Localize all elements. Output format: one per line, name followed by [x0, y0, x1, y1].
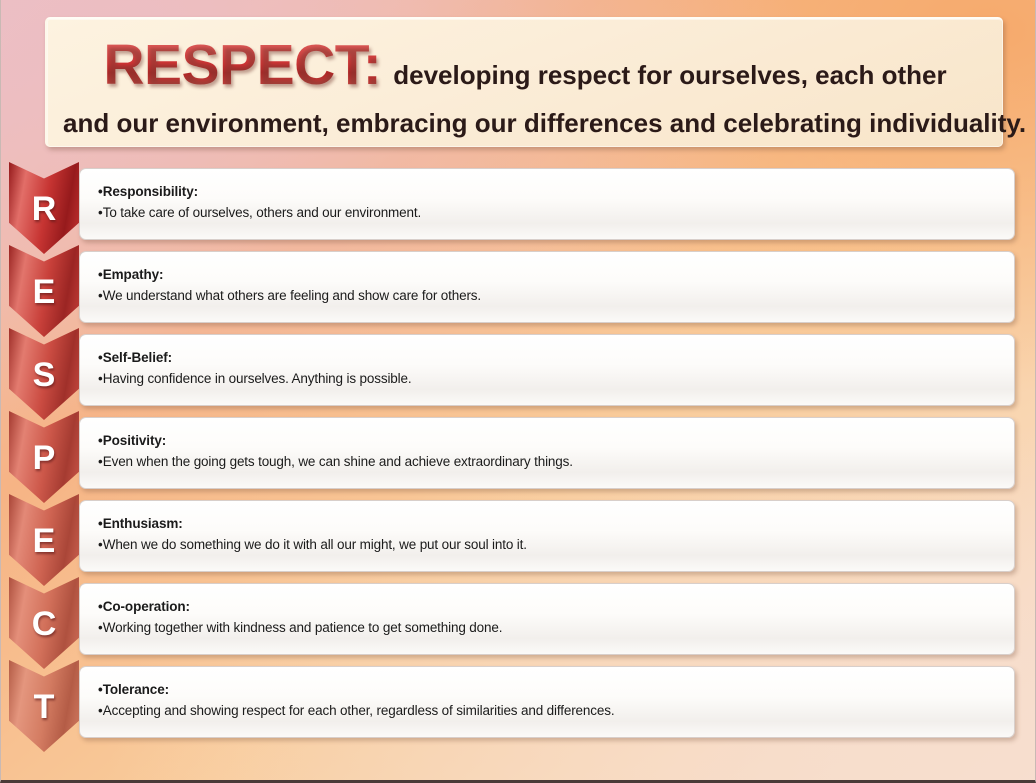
value-title-text: Empathy:	[103, 267, 164, 282]
value-title-text: Positivity:	[103, 433, 166, 448]
value-description: •Even when the going gets tough, we can …	[98, 451, 1014, 473]
value-card-empathy: •Empathy: •We understand what others are…	[79, 251, 1015, 323]
chevron-letter: C	[32, 607, 57, 641]
list-item: P •Positivity: •Even when the going gets…	[1, 417, 1036, 489]
value-title: •Tolerance:	[98, 680, 1014, 700]
chevron-down-icon-t: T	[9, 660, 79, 752]
chevron-down-icon-c: C	[9, 577, 79, 669]
value-description: •Working together with kindness and pati…	[98, 617, 1014, 639]
value-description: •When we do something we do it with all …	[98, 534, 1014, 556]
value-description-text: We understand what others are feeling an…	[103, 288, 481, 303]
value-title: •Co-operation:	[98, 597, 1014, 617]
value-description: •To take care of ourselves, others and o…	[98, 202, 1014, 224]
list-item: R •Responsibility: •To take care of ours…	[1, 168, 1036, 240]
header-subtitle-part: developing respect for ourselves, each o…	[393, 60, 946, 90]
chevron-letter: E	[33, 524, 56, 558]
value-card-tolerance: •Tolerance: •Accepting and showing respe…	[79, 666, 1015, 738]
chevron-down-icon-e2: E	[9, 494, 79, 586]
chevron-down-icon-s: S	[9, 328, 79, 420]
chevron-letter: R	[32, 192, 57, 226]
chevron-down-icon-r: R	[9, 162, 79, 254]
poster-header-banner: RESPECT:developing respect for ourselves…	[45, 17, 1003, 147]
value-title: •Enthusiasm:	[98, 514, 1014, 534]
list-item: T •Tolerance: •Accepting and showing res…	[1, 666, 1036, 738]
value-title-text: Co-operation:	[103, 599, 190, 614]
value-title-text: Enthusiasm:	[103, 516, 183, 531]
value-card-self-belief: •Self-Belief: •Having confidence in ours…	[79, 334, 1015, 406]
value-description-text: Even when the going gets tough, we can s…	[103, 454, 573, 469]
list-item: E •Enthusiasm: •When we do something we …	[1, 500, 1036, 572]
value-card-co-operation: •Co-operation: •Working together with ki…	[79, 583, 1015, 655]
chevron-down-icon-p: P	[9, 411, 79, 503]
chevron-letter: P	[33, 441, 56, 475]
list-item: C •Co-operation: •Working together with …	[1, 583, 1036, 655]
chevron-letter: S	[33, 358, 56, 392]
value-description-text: Accepting and showing respect for each o…	[103, 703, 615, 718]
value-description-text: When we do something we do it with all o…	[103, 537, 527, 552]
value-description: •Accepting and showing respect for each …	[98, 700, 1014, 722]
header-line-2: and our environment, embracing our diffe…	[63, 108, 987, 139]
value-title-text: Tolerance:	[103, 682, 169, 697]
value-title-text: Self-Belief:	[103, 350, 172, 365]
value-card-enthusiasm: •Enthusiasm: •When we do something we do…	[79, 500, 1015, 572]
value-description: •We understand what others are feeling a…	[98, 285, 1014, 307]
value-card-responsibility: •Responsibility: •To take care of oursel…	[79, 168, 1015, 240]
brand-word-respect: RESPECT:	[103, 33, 381, 97]
chevron-down-icon-e1: E	[9, 245, 79, 337]
value-title: •Self-Belief:	[98, 348, 1014, 368]
respect-values-poster: RESPECT:developing respect for ourselves…	[0, 0, 1036, 783]
value-description: •Having confidence in ourselves. Anythin…	[98, 368, 1014, 390]
value-description-text: Working together with kindness and patie…	[103, 620, 503, 635]
values-list: R •Responsibility: •To take care of ours…	[1, 168, 1036, 749]
value-description-text: Having confidence in ourselves. Anything…	[103, 371, 412, 386]
value-card-positivity: •Positivity: •Even when the going gets t…	[79, 417, 1015, 489]
value-title: •Responsibility:	[98, 182, 1014, 202]
list-item: E •Empathy: •We understand what others a…	[1, 251, 1036, 323]
value-title: •Empathy:	[98, 265, 1014, 285]
list-item: S •Self-Belief: •Having confidence in ou…	[1, 334, 1036, 406]
header-line-1: RESPECT:developing respect for ourselves…	[63, 31, 987, 94]
chevron-letter: E	[33, 275, 56, 309]
value-description-text: To take care of ourselves, others and ou…	[103, 205, 421, 220]
chevron-letter: T	[34, 690, 55, 724]
value-title-text: Responsibility:	[103, 184, 198, 199]
value-title: •Positivity:	[98, 431, 1014, 451]
